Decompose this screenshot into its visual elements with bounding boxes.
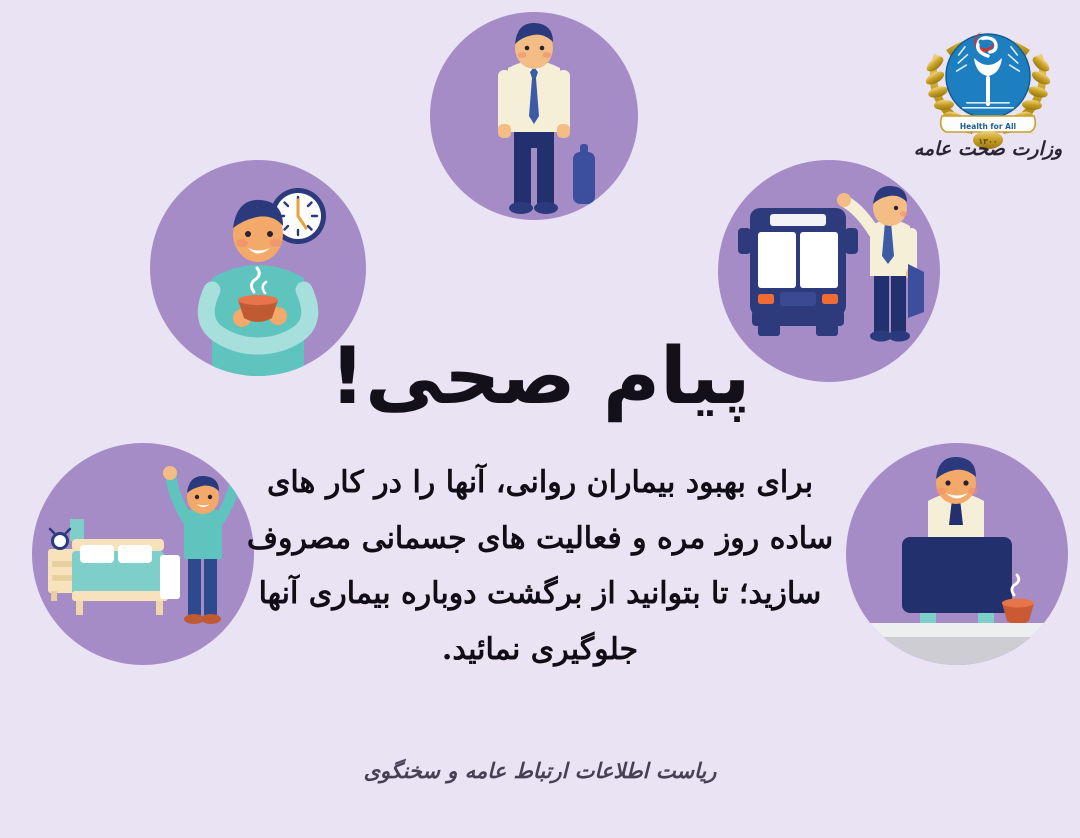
footer-attribution: ریاست اطلاعات ارتباط عامه و سخنگوی bbox=[0, 758, 1080, 783]
message-line: سازید؛ تا بتوانید از برگشت دوباره بیماری… bbox=[215, 566, 865, 622]
message-line: برای بهبود بیماران روانی، آنها را در کار… bbox=[215, 455, 865, 511]
poster-canvas: Health for All ۱۳۰۰ وزارت صحت عامه پیام … bbox=[0, 0, 1080, 838]
message-line: ساده روز مره و فعالیت های جسمانی مصروف bbox=[215, 511, 865, 567]
ministry-logo-caption: وزارت صحت عامه bbox=[908, 138, 1068, 160]
standing-commuter-graphic bbox=[430, 12, 638, 220]
office-desk-work-graphic bbox=[846, 443, 1068, 665]
page-title: پیام صحی! bbox=[0, 338, 1080, 416]
svg-text:Health for All: Health for All bbox=[960, 122, 1016, 131]
message-body: برای بهبود بیماران روانی، آنها را در کار… bbox=[215, 455, 865, 677]
illustration-standing-commuter bbox=[430, 12, 638, 220]
illustration-office-desk-work bbox=[846, 443, 1068, 665]
ministry-logo-emblem: Health for All ۱۳۰۰ bbox=[908, 10, 1068, 150]
message-line: جلوگیری نمائید. bbox=[215, 622, 865, 678]
